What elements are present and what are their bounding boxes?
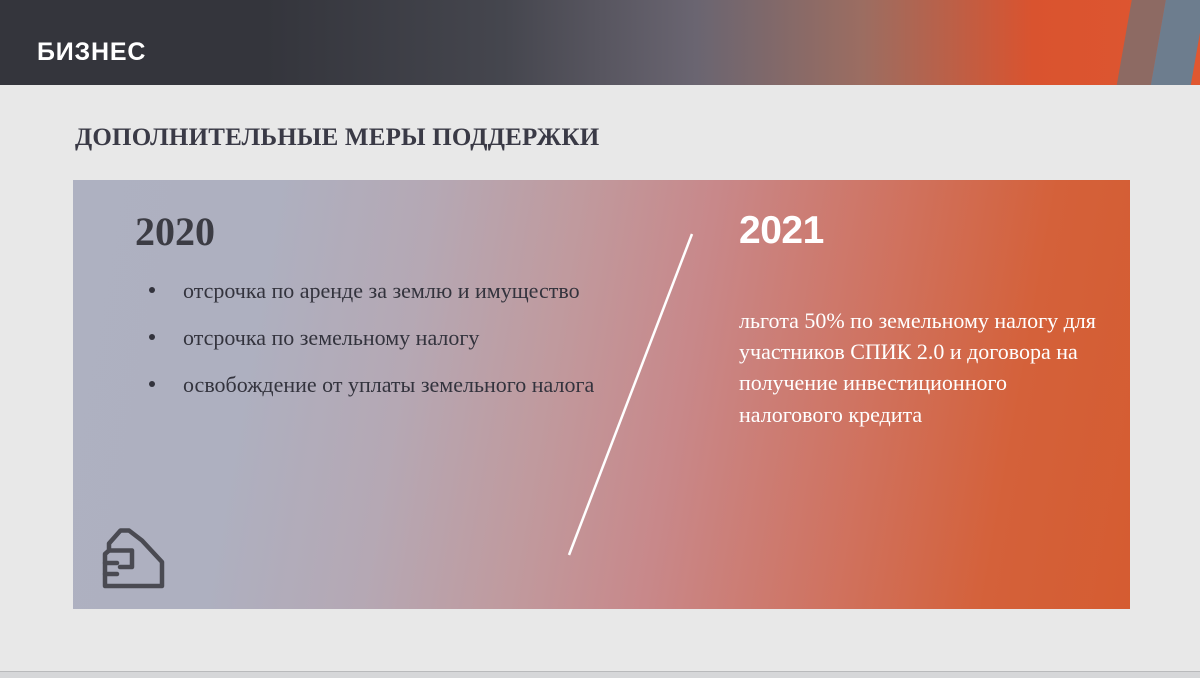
measures-list-2020: отсрочка по аренде за землю и имущество … — [135, 276, 595, 399]
header-title: БИЗНЕС — [37, 40, 146, 65]
bullet-dot-icon — [149, 287, 155, 293]
footer-rule — [0, 671, 1200, 678]
bullet-dot-icon — [149, 381, 155, 387]
column-2020: 2020 отсрочка по аренде за землю и имуще… — [135, 210, 595, 417]
slide-header: БИЗНЕС — [0, 0, 1200, 85]
list-item: освобождение от уплаты земельного налога — [135, 370, 595, 399]
measures-text-2021: льгота 50% по земельному налогу для учас… — [739, 305, 1109, 430]
bullet-dot-icon — [149, 334, 155, 340]
list-item-text: отсрочка по земельному налогу — [183, 325, 479, 350]
list-item: отсрочка по аренде за землю и имущество — [135, 276, 595, 305]
list-item-text: отсрочка по аренде за землю и имущество — [183, 278, 580, 303]
slide: БИЗНЕС ДОПОЛНИТЕЛЬНЫЕ МЕРЫ ПОДДЕРЖКИ 202… — [0, 0, 1200, 678]
content-panel: 2020 отсрочка по аренде за землю и имуще… — [73, 180, 1130, 609]
column-2021: 2021 льгота 50% по земельному налогу для… — [739, 210, 1109, 430]
page-title: ДОПОЛНИТЕЛЬНЫЕ МЕРЫ ПОДДЕРЖКИ — [75, 124, 599, 152]
hand-document-icon — [96, 524, 174, 596]
year-label-2020: 2020 — [135, 210, 595, 254]
year-label-2021: 2021 — [739, 210, 1109, 253]
list-item: отсрочка по земельному налогу — [135, 323, 595, 352]
list-item-text: освобождение от уплаты земельного налога — [183, 372, 594, 397]
